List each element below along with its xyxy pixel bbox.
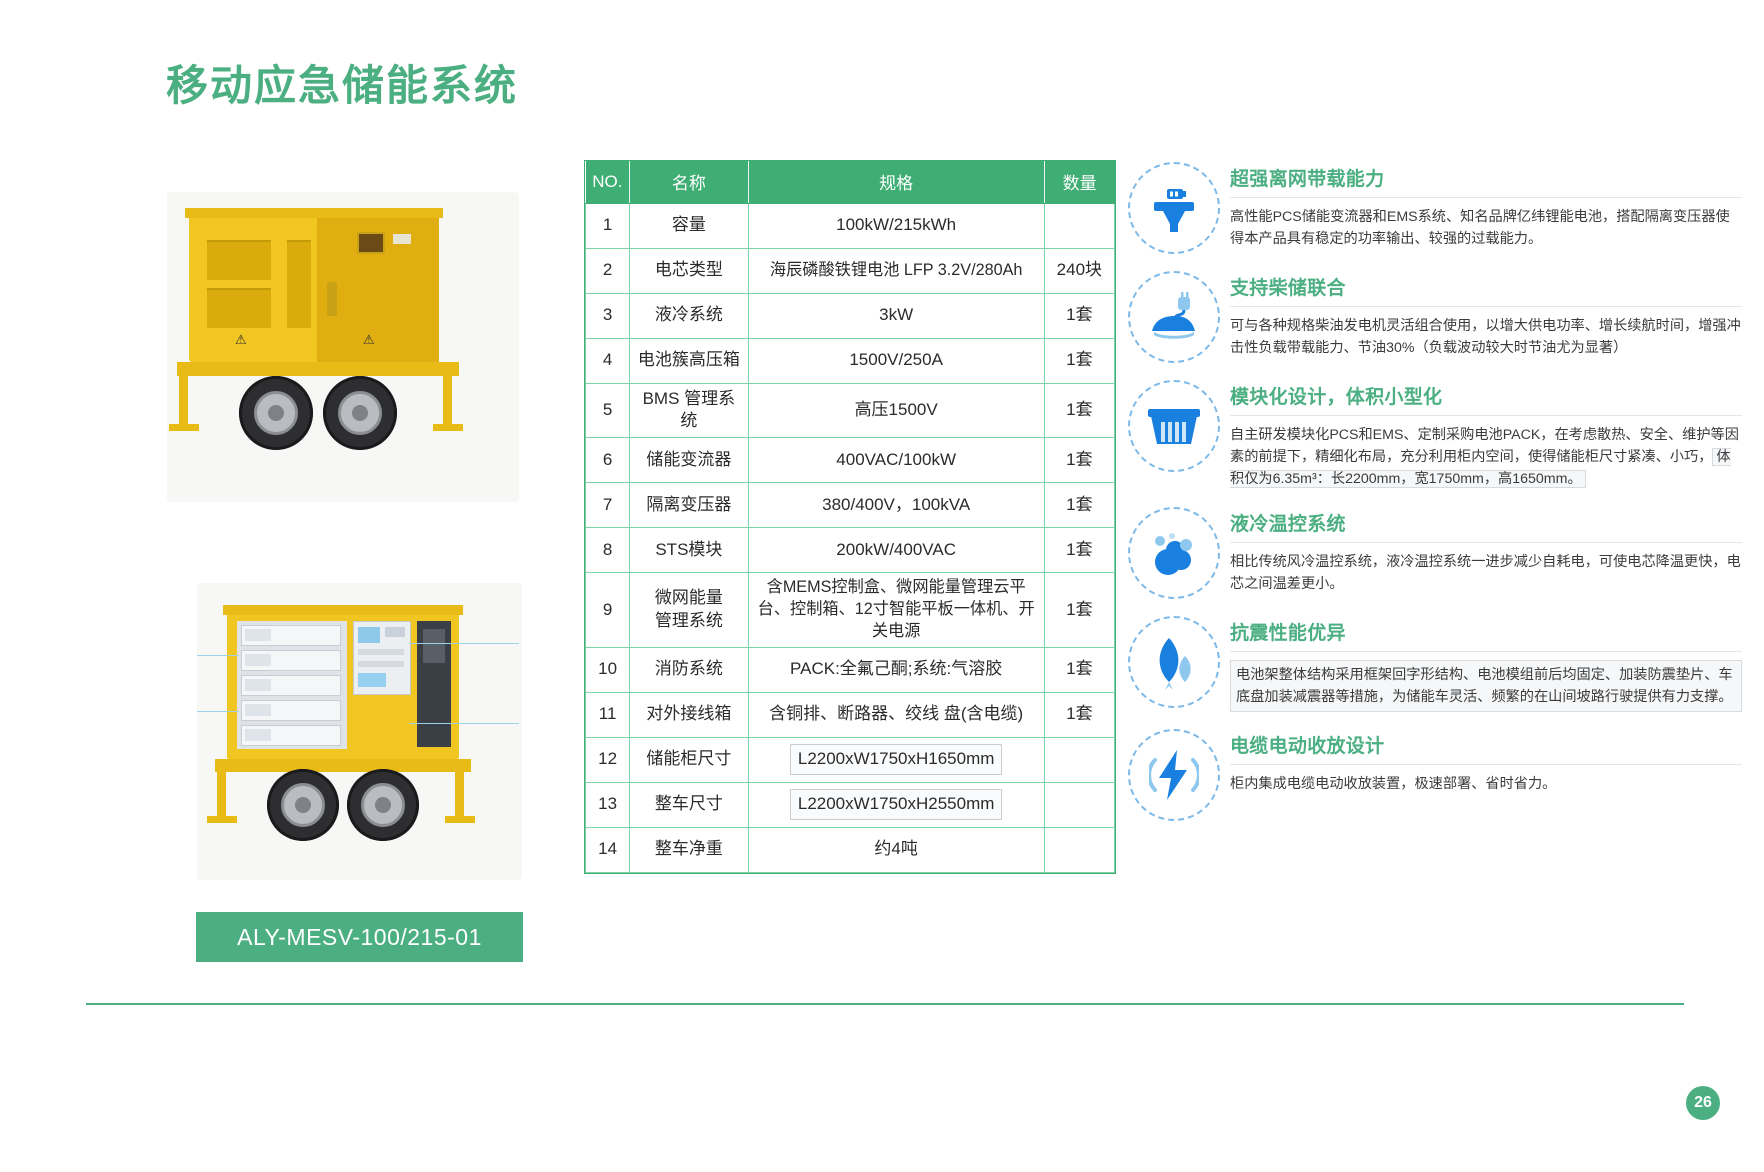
cell-name: 容量 bbox=[630, 203, 748, 248]
table-row: 12储能柜尺寸L2200xW1750xH1650mm bbox=[586, 737, 1115, 782]
feature-title: 液冷温控系统 bbox=[1230, 509, 1742, 536]
cell-qty bbox=[1044, 782, 1114, 827]
cell-name: 电芯类型 bbox=[630, 248, 748, 293]
cell-name: BMS 管理系统 bbox=[630, 383, 748, 438]
page-number-badge: 26 bbox=[1686, 1086, 1720, 1120]
product-model-badge: ALY-MESV-100/215-01 bbox=[196, 912, 523, 962]
cell-name: 整车净重 bbox=[630, 827, 748, 872]
feature-body: 模块化设计，体积小型化自主研发模块化PCS和EMS、定制采购电池PACK，在考虑… bbox=[1230, 378, 1742, 490]
column-header-qty: 数量 bbox=[1044, 161, 1114, 203]
feature-description: 电池架整体结构采用框架回字形结构、电池模组前后均固定、加装防震垫片、车底盘加装减… bbox=[1230, 660, 1742, 712]
table-header-row: NO. 名称 规格 数量 bbox=[586, 161, 1115, 203]
feature-title: 支持柴储联合 bbox=[1230, 273, 1742, 300]
cell-spec: 含铜排、断路器、绞线 盘(含电缆) bbox=[748, 692, 1044, 737]
product-photo-open-cabinet bbox=[197, 583, 522, 880]
feature-description: 自主研发模块化PCS和EMS、定制采购电池PACK，在考虑散热、安全、维护等因素… bbox=[1230, 424, 1742, 490]
feature-item: 抗震性能优异电池架整体结构采用框架回字形结构、电池模组前后均固定、加装防震垫片、… bbox=[1128, 614, 1742, 712]
cell-qty: 240块 bbox=[1044, 248, 1114, 293]
cell-no: 2 bbox=[586, 248, 630, 293]
cell-no: 13 bbox=[586, 782, 630, 827]
cell-spec: 3kW bbox=[748, 293, 1044, 338]
cell-no: 14 bbox=[586, 827, 630, 872]
feature-divider bbox=[1230, 306, 1742, 307]
battery-funnel-icon bbox=[1128, 162, 1220, 254]
table-row: 1容量100kW/215kWh bbox=[586, 203, 1115, 248]
feature-item: 液冷温控系统相比传统风冷温控系统，液冷温控系统一进步减少自耗电，可使电芯降温更快… bbox=[1128, 505, 1742, 599]
feature-description: 高性能PCS储能变流器和EMS系统、知名品牌亿纬锂能电池，搭配隔离变压器使得本产… bbox=[1230, 206, 1742, 250]
feature-body: 抗震性能优异电池架整体结构采用框架回字形结构、电池模组前后均固定、加装防震垫片、… bbox=[1230, 614, 1742, 712]
cell-qty: 1套 bbox=[1044, 692, 1114, 737]
feature-divider bbox=[1230, 542, 1742, 543]
leaf-shock-icon bbox=[1128, 616, 1220, 708]
cell-spec: 约4吨 bbox=[748, 827, 1044, 872]
cell-spec: L2200xW1750xH1650mm bbox=[748, 737, 1044, 782]
table-row: 2电芯类型海辰磷酸铁锂电池 LFP 3.2V/280Ah240块 bbox=[586, 248, 1115, 293]
cell-name: 微网能量管理系统 bbox=[630, 573, 748, 648]
feature-title: 模块化设计，体积小型化 bbox=[1230, 382, 1742, 409]
boxed-value: L2200xW1750xH2550mm bbox=[790, 789, 1003, 820]
cell-spec: 100kW/215kWh bbox=[748, 203, 1044, 248]
cell-no: 3 bbox=[586, 293, 630, 338]
feature-description: 柜内集成电缆电动收放装置，极速部署、省时省力。 bbox=[1230, 773, 1742, 795]
feature-title: 抗震性能优异 bbox=[1230, 618, 1742, 645]
boxed-value: L2200xW1750xH1650mm bbox=[790, 744, 1003, 775]
feature-item: 电缆电动收放设计柜内集成电缆电动收放装置，极速部署、省时省力。 bbox=[1128, 727, 1742, 821]
column-header-no: NO. bbox=[586, 161, 630, 203]
cell-no: 5 bbox=[586, 383, 630, 438]
cell-qty bbox=[1044, 827, 1114, 872]
table-row: 8STS模块200kW/400VAC1套 bbox=[586, 528, 1115, 573]
product-model-text: ALY-MESV-100/215-01 bbox=[237, 924, 482, 951]
cell-spec: 高压1500V bbox=[748, 383, 1044, 438]
cell-qty bbox=[1044, 203, 1114, 248]
table-row: 7隔离变压器380/400V，100kVA1套 bbox=[586, 483, 1115, 528]
cell-no: 1 bbox=[586, 203, 630, 248]
cell-spec: 200kW/400VAC bbox=[748, 528, 1044, 573]
ev-charging-car-icon bbox=[1128, 271, 1220, 363]
cell-qty: 1套 bbox=[1044, 293, 1114, 338]
table-row: 6储能变流器400VAC/100kW1套 bbox=[586, 438, 1115, 483]
cell-spec: L2200xW1750xH2550mm bbox=[748, 782, 1044, 827]
table-row: 3液冷系统3kW1套 bbox=[586, 293, 1115, 338]
table-row: 11对外接线箱含铜排、断路器、绞线 盘(含电缆)1套 bbox=[586, 692, 1115, 737]
cell-spec: 含MEMS控制盒、微网能量管理云平台、控制箱、12寸智能平板一体机、开关电源 bbox=[748, 573, 1044, 648]
feature-item: 超强离网带载能力高性能PCS储能变流器和EMS系统、知名品牌亿纬锂能电池，搭配隔… bbox=[1128, 160, 1742, 254]
cell-name: STS模块 bbox=[630, 528, 748, 573]
cell-no: 11 bbox=[586, 692, 630, 737]
cell-spec: 1500V/250A bbox=[748, 338, 1044, 383]
table-row: 13整车尺寸L2200xW1750xH2550mm bbox=[586, 782, 1115, 827]
cell-spec: PACK:全氟己酮;系统:气溶胶 bbox=[748, 647, 1044, 692]
feature-body: 支持柴储联合可与各种规格柴油发电机灵活组合使用，以增大供电功率、增长续航时间，增… bbox=[1230, 269, 1742, 359]
cell-no: 4 bbox=[586, 338, 630, 383]
feature-divider bbox=[1230, 764, 1742, 765]
cell-name: 液冷系统 bbox=[630, 293, 748, 338]
cell-qty: 1套 bbox=[1044, 573, 1114, 648]
cell-qty: 1套 bbox=[1044, 528, 1114, 573]
table-row: 10消防系统PACK:全氟己酮;系统:气溶胶1套 bbox=[586, 647, 1115, 692]
table-row: 14整车净重约4吨 bbox=[586, 827, 1115, 872]
cell-no: 9 bbox=[586, 573, 630, 648]
cell-name: 储能变流器 bbox=[630, 438, 748, 483]
column-header-spec: 规格 bbox=[748, 161, 1044, 203]
footer-divider bbox=[86, 1003, 1684, 1005]
cell-spec: 400VAC/100kW bbox=[748, 438, 1044, 483]
cell-no: 10 bbox=[586, 647, 630, 692]
feature-divider bbox=[1230, 197, 1742, 198]
page-title: 移动应急储能系统 bbox=[166, 52, 518, 113]
table-row: 9微网能量管理系统含MEMS控制盒、微网能量管理云平台、控制箱、12寸智能平板一… bbox=[586, 573, 1115, 648]
feature-body: 电缆电动收放设计柜内集成电缆电动收放装置，极速部署、省时省力。 bbox=[1230, 727, 1742, 795]
feature-divider bbox=[1230, 651, 1742, 652]
cell-no: 8 bbox=[586, 528, 630, 573]
cell-qty: 1套 bbox=[1044, 438, 1114, 483]
cell-qty: 1套 bbox=[1044, 483, 1114, 528]
liquid-cooling-drops-icon bbox=[1128, 507, 1220, 599]
table-row: 4电池簇高压箱1500V/250A1套 bbox=[586, 338, 1115, 383]
feature-item: 模块化设计，体积小型化自主研发模块化PCS和EMS、定制采购电池PACK，在考虑… bbox=[1128, 378, 1742, 490]
cell-name: 隔离变压器 bbox=[630, 483, 748, 528]
cell-name: 消防系统 bbox=[630, 647, 748, 692]
cell-qty: 1套 bbox=[1044, 338, 1114, 383]
table-row: 5BMS 管理系统高压1500V1套 bbox=[586, 383, 1115, 438]
cell-name: 电池簇高压箱 bbox=[630, 338, 748, 383]
feature-item: 支持柴储联合可与各种规格柴油发电机灵活组合使用，以增大供电功率、增长续航时间，增… bbox=[1128, 269, 1742, 363]
column-header-name: 名称 bbox=[630, 161, 748, 203]
feature-divider bbox=[1230, 415, 1742, 416]
cell-no: 6 bbox=[586, 438, 630, 483]
cell-name: 储能柜尺寸 bbox=[630, 737, 748, 782]
cell-name: 对外接线箱 bbox=[630, 692, 748, 737]
feature-highlight: 体积仅为6.35m³：长2200mm，宽1750mm，高1650mm。 bbox=[1230, 448, 1731, 488]
feature-title: 电缆电动收放设计 bbox=[1230, 731, 1742, 758]
cell-no: 12 bbox=[586, 737, 630, 782]
cell-qty: 1套 bbox=[1044, 383, 1114, 438]
cell-name: 整车尺寸 bbox=[630, 782, 748, 827]
feature-description: 相比传统风冷温控系统，液冷温控系统一进步减少自耗电，可使电芯降温更快，电芯之间温… bbox=[1230, 551, 1742, 595]
feature-body: 超强离网带载能力高性能PCS储能变流器和EMS系统、知名品牌亿纬锂能电池，搭配隔… bbox=[1230, 160, 1742, 250]
cell-no: 7 bbox=[586, 483, 630, 528]
cell-qty bbox=[1044, 737, 1114, 782]
product-photo-closed-trailer: ⚠ ⚠ bbox=[167, 192, 519, 502]
feature-description: 可与各种规格柴油发电机灵活组合使用，以增大供电功率、增长续航时间，增强冲击性负载… bbox=[1230, 315, 1742, 359]
feature-title: 超强离网带载能力 bbox=[1230, 164, 1742, 191]
feature-body: 液冷温控系统相比传统风冷温控系统，液冷温控系统一进步减少自耗电，可使电芯降温更快… bbox=[1230, 505, 1742, 595]
cell-qty: 1套 bbox=[1044, 647, 1114, 692]
cell-spec: 380/400V，100kVA bbox=[748, 483, 1044, 528]
feature-list: 超强离网带载能力高性能PCS储能变流器和EMS系统、知名品牌亿纬锂能电池，搭配隔… bbox=[1128, 160, 1742, 836]
cell-spec: 海辰磷酸铁锂电池 LFP 3.2V/280Ah bbox=[748, 248, 1044, 293]
lightning-bolt-icon bbox=[1128, 729, 1220, 821]
specification-table: NO. 名称 规格 数量 1容量100kW/215kWh2电芯类型海辰磷酸铁锂电… bbox=[585, 161, 1115, 873]
modular-rack-icon bbox=[1128, 380, 1220, 472]
